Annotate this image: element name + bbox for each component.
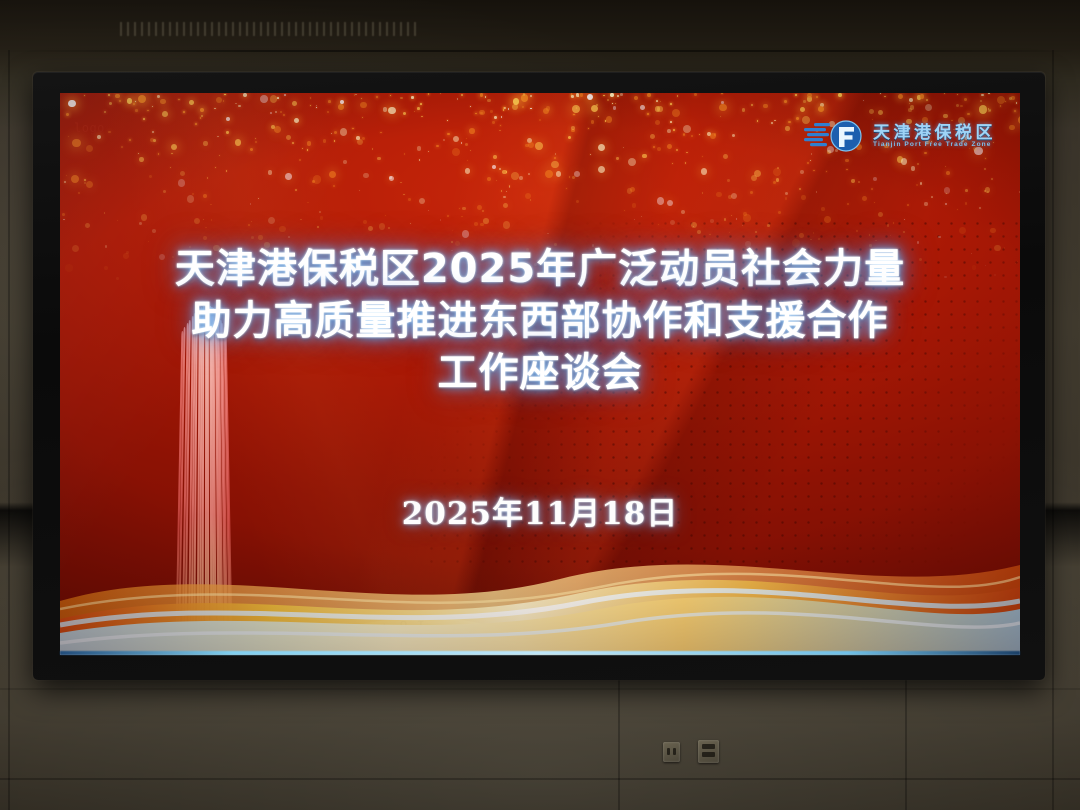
slide-title: 天津港保税区2025年广泛动员社会力量 助力高质量推进东西部协作和支援合作 工作… — [60, 243, 1020, 399]
wall-seam — [0, 778, 1080, 780]
tianjin-port-ftz-logo: 天津港保税区 Tianjin Port Free Trade Zone — [804, 119, 996, 153]
panel-bottom-glow — [60, 651, 1020, 655]
wall-seam — [0, 688, 1080, 690]
logo-name-en: Tianjin Port Free Trade Zone — [873, 142, 996, 149]
logo-emblem-icon — [804, 119, 866, 153]
led-display-panel: 中国（天津）自由贸易试验区 PILOT FREE TRADE ZONE — [60, 93, 1020, 655]
logo-name-cn: 天津港保税区 — [873, 124, 996, 141]
title-line-1: 天津港保税区2025年广泛动员社会力量 — [60, 243, 1020, 295]
logo-text: 天津港保税区 Tianjin Port Free Trade Zone — [873, 124, 996, 149]
wall-socket[interactable] — [663, 742, 680, 762]
slide-watermark: logo — [74, 121, 105, 135]
date-text: 2025年11月18日 — [60, 488, 1020, 533]
wall-switch-panel[interactable] — [698, 740, 719, 763]
wall-seam — [618, 680, 620, 810]
title-line-2: 助力高质量推进东西部协作和支援合作 — [60, 295, 1020, 347]
title-line-3: 工作座谈会 — [60, 347, 1020, 399]
ceiling-edge-line — [0, 50, 1080, 52]
conference-room: 中国（天津）自由贸易试验区 PILOT FREE TRADE ZONE — [0, 0, 1080, 810]
led-display-bezel: 中国（天津）自由贸易试验区 PILOT FREE TRADE ZONE — [33, 72, 1045, 680]
wall-seam — [8, 50, 10, 810]
wall-seam — [905, 680, 907, 810]
wall-seam — [1052, 50, 1054, 810]
slide-date: 2025年11月18日 — [60, 488, 1020, 533]
ceiling-vent — [120, 22, 420, 36]
